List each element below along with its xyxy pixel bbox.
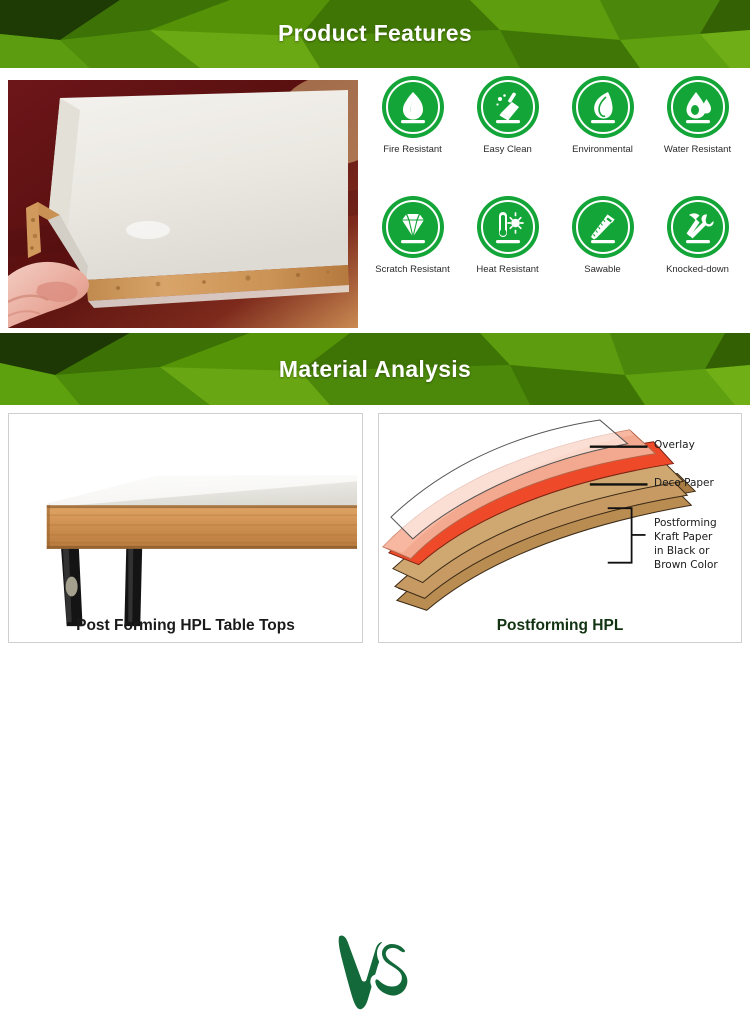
panel-postforming-hpl: Overlay Deco Paper Postforming Kraft Pap… xyxy=(378,413,742,643)
feature-badge xyxy=(572,196,634,258)
leaf-icon xyxy=(583,86,623,126)
feature-label: Environmental xyxy=(572,145,633,155)
feature-label: Easy Clean xyxy=(483,145,532,155)
feature-label: Knocked-down xyxy=(666,265,729,275)
layer-label-kraft-paper: Postforming Kraft Paper in Black or Brow… xyxy=(654,517,718,572)
vs-icon xyxy=(329,925,415,1023)
thermometer-sun-icon xyxy=(488,206,528,246)
feature-item-scratch-resistant[interactable]: Scratch Resistant xyxy=(365,196,460,316)
feature-item-heat-resistant[interactable]: Heat Resistant xyxy=(460,196,555,316)
product-features-banner: Product Features xyxy=(0,0,750,68)
feature-item-water-resistant[interactable]: Water Resistant xyxy=(650,76,745,196)
table-top-photo-illustration xyxy=(9,414,362,642)
feature-item-knocked-down[interactable]: Knocked-down xyxy=(650,196,745,316)
feature-label: Water Resistant xyxy=(664,145,731,155)
feature-badge xyxy=(667,76,729,138)
feature-badge xyxy=(477,196,539,258)
feature-badge xyxy=(382,196,444,258)
feature-badge xyxy=(667,196,729,258)
product-photo-illustration xyxy=(8,80,358,328)
feature-item-easy-clean[interactable]: Easy Clean xyxy=(460,76,555,196)
feature-item-fire-resistant[interactable]: Fire Resistant xyxy=(365,76,460,196)
feature-item-sawable[interactable]: Sawable xyxy=(555,196,650,316)
layer-label-overlay: Overlay xyxy=(654,439,695,453)
feature-badge xyxy=(572,76,634,138)
flame-icon xyxy=(393,86,433,126)
broom-icon xyxy=(488,86,528,126)
material-comparison: Post Forming HPL Table Tops xyxy=(0,405,750,655)
panel-post-forming-table-tops: Post Forming HPL Table Tops xyxy=(8,413,363,643)
feature-label: Sawable xyxy=(584,265,620,275)
material-analysis-banner: Material Analysis xyxy=(0,333,750,405)
feature-label: Fire Resistant xyxy=(383,145,442,155)
panel-caption-left: Post Forming HPL Table Tops xyxy=(9,617,362,634)
feature-badge xyxy=(382,76,444,138)
page-title-features: Product Features xyxy=(0,0,750,45)
handsaw-icon xyxy=(583,206,623,246)
page-title-material: Material Analysis xyxy=(0,333,750,381)
feature-icon-grid: Fire Resistant Easy Clean xyxy=(365,76,745,316)
water-drop-icon xyxy=(678,86,718,126)
panel-caption-right: Postforming HPL xyxy=(379,617,741,634)
feature-label: Scratch Resistant xyxy=(375,265,449,275)
feature-badge xyxy=(477,76,539,138)
diamond-icon xyxy=(393,206,433,246)
hammer-wrench-icon xyxy=(678,206,718,246)
features-content: Fire Resistant Easy Clean xyxy=(0,68,750,333)
product-photo xyxy=(8,80,358,328)
layer-label-deco-paper: Deco Paper xyxy=(654,477,714,491)
feature-label: Heat Resistant xyxy=(476,265,538,275)
vs-badge xyxy=(329,925,415,1023)
feature-item-environmental[interactable]: Environmental xyxy=(555,76,650,196)
